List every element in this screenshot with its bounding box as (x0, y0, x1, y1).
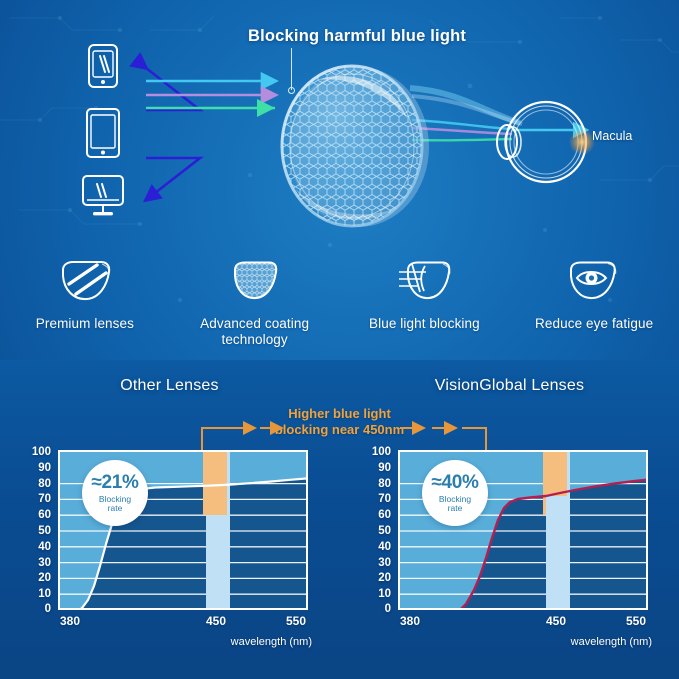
chart-panel-other-lenses: Other Lenses 100 90 80 70 60 50 40 30 20… (0, 360, 339, 679)
y-tick-70: 70 (378, 493, 391, 505)
plot-area-wrapper: 100 90 80 70 60 50 40 30 20 10 0 (58, 450, 308, 638)
caption-line-2: rate (448, 503, 463, 513)
feature-item-premium-lenses: Premium lenses (0, 255, 170, 355)
x-tick-380: 380 (60, 614, 80, 628)
y-tick-90: 90 (38, 462, 51, 474)
x-axis-label: wavelength (nm) (571, 636, 652, 648)
y-tick-30: 30 (38, 557, 51, 569)
hero-illustration: Blocking harmful blue light (0, 0, 679, 250)
y-tick-30: 30 (378, 557, 391, 569)
blocking-rate-badge: ≈21% Blocking rate (82, 460, 148, 526)
eye-in-lens-icon (565, 255, 623, 307)
y-tick-40: 40 (378, 541, 391, 553)
chart-title: VisionGlobal Lenses (340, 377, 679, 395)
features-row: Premium lenses (0, 255, 679, 355)
infographic-stage: Blocking harmful blue light (0, 0, 679, 679)
y-tick-100: 100 (372, 446, 391, 458)
chart-title: Other Lenses (0, 377, 339, 395)
blocking-rate-caption: Blocking rate (439, 495, 471, 513)
x-tick-450: 450 (546, 614, 566, 628)
blocking-rate-value: ≈40% (431, 473, 478, 492)
macula-label: Macula (592, 129, 632, 143)
y-tick-80: 80 (378, 478, 391, 490)
plot-area-wrapper: 100 90 80 70 60 50 40 30 20 10 0 (398, 450, 648, 638)
y-tick-80: 80 (38, 478, 51, 490)
feature-label: Blue light blocking (369, 316, 480, 332)
y-tick-90: 90 (378, 462, 391, 474)
plot-area: ≈40% Blocking rate (398, 450, 648, 610)
y-tick-0: 0 (45, 603, 51, 615)
y-tick-0: 0 (385, 603, 391, 615)
y-tick-10: 10 (378, 588, 391, 600)
y-tick-100: 100 (32, 446, 51, 458)
feature-item-reduce-eye-fatigue: Reduce eye fatigue (509, 255, 679, 355)
feature-item-blue-light-blocking: Blue light blocking (340, 255, 510, 355)
premium-lens-icon (57, 255, 113, 307)
blue-light-blocking-lens-icon (394, 255, 454, 307)
honeycomb-lens-icon (255, 62, 450, 232)
caption-line-2: rate (108, 503, 123, 513)
y-tick-70: 70 (38, 493, 51, 505)
coating-lens-icon (227, 255, 283, 307)
y-tick-10: 10 (38, 588, 51, 600)
chart-panel-visionglobal-lenses: VisionGlobal Lenses 100 90 80 70 60 50 4… (340, 360, 679, 679)
plot-area: ≈21% Blocking rate (58, 450, 308, 610)
feature-label: Premium lenses (36, 316, 134, 332)
y-tick-60: 60 (378, 509, 391, 521)
y-tick-50: 50 (378, 525, 391, 537)
eyeball-icon (490, 90, 600, 200)
feature-item-advanced-coating: Advanced coating technology (170, 255, 340, 355)
blocking-rate-badge: ≈40% Blocking rate (422, 460, 488, 526)
y-tick-40: 40 (38, 541, 51, 553)
y-tick-60: 60 (38, 509, 51, 521)
feature-label: Reduce eye fatigue (535, 316, 653, 332)
y-tick-20: 20 (38, 572, 51, 584)
y-tick-20: 20 (378, 572, 391, 584)
x-tick-450: 450 (206, 614, 226, 628)
feature-label: Advanced coating technology (170, 316, 340, 348)
x-tick-380: 380 (400, 614, 420, 628)
x-tick-550: 550 (286, 614, 306, 628)
x-axis-label: wavelength (nm) (231, 636, 312, 648)
x-tick-550: 550 (626, 614, 646, 628)
blocking-rate-caption: Blocking rate (99, 495, 131, 513)
charts-section: Higher blue light blocking near 450nm (0, 360, 679, 679)
blocking-rate-value: ≈21% (91, 473, 138, 492)
y-tick-50: 50 (38, 525, 51, 537)
